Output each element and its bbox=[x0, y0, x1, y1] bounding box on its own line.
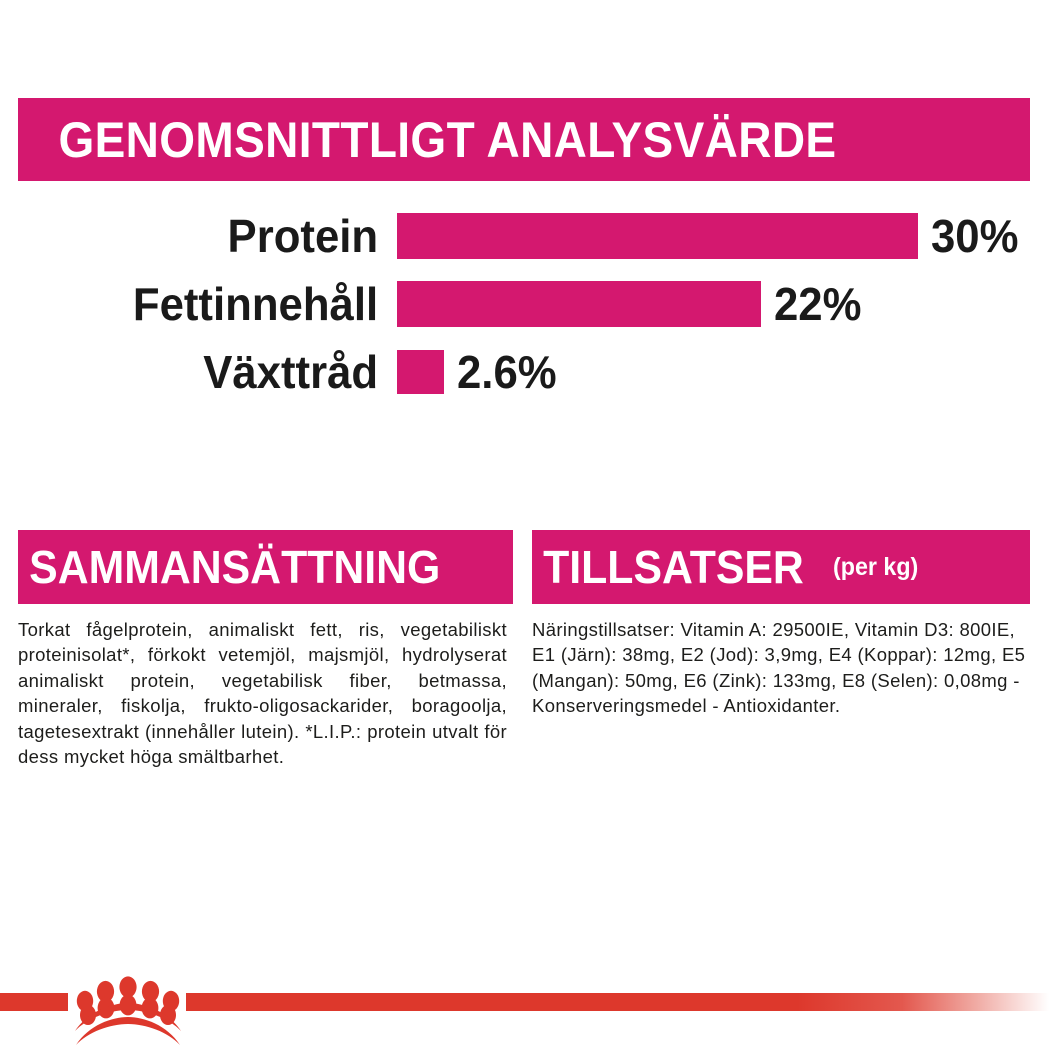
composition-header-band: SAMMANSÄTTNING bbox=[18, 530, 513, 604]
composition-text-block: Torkat fågelprotein, animaliskt fett, ri… bbox=[18, 617, 507, 769]
additives-header-title: TILLSATSER bbox=[532, 544, 804, 590]
chart-bar-wrapper: 30% bbox=[397, 205, 1023, 267]
chart-category-label: Protein bbox=[19, 213, 380, 259]
royal-canin-crown-icon bbox=[68, 975, 188, 1049]
additives-text: Näringstillsatser: Vitamin A: 29500IE, V… bbox=[532, 617, 1026, 719]
chart-value-label: 2.6% bbox=[457, 349, 557, 395]
chart-row: Fettinnehåll 22% bbox=[0, 273, 1049, 335]
average-analysis-bar-chart: Protein 30% Fettinnehåll 22% Växttråd 2.… bbox=[0, 200, 1049, 405]
additives-header-subtitle: (per kg) bbox=[833, 555, 918, 580]
chart-bar-wrapper: 2.6% bbox=[397, 341, 562, 403]
chart-value-label: 30% bbox=[931, 213, 1018, 259]
chart-category-label: Fettinnehåll bbox=[19, 281, 380, 327]
chart-row: Växttråd 2.6% bbox=[0, 341, 1049, 403]
composition-header-title: SAMMANSÄTTNING bbox=[18, 544, 440, 590]
analysis-header-title: GENOMSNITTLIGT ANALYSVÄRDE bbox=[18, 115, 836, 165]
chart-bar-wrapper: 22% bbox=[397, 273, 866, 335]
additives-text-block: Näringstillsatser: Vitamin A: 29500IE, V… bbox=[532, 617, 1026, 719]
additives-header-band: TILLSATSER (per kg) bbox=[532, 530, 1030, 604]
composition-text: Torkat fågelprotein, animaliskt fett, ri… bbox=[18, 617, 507, 769]
chart-category-label: Växttråd bbox=[19, 349, 380, 395]
footer bbox=[0, 975, 1049, 1049]
analysis-header-band: GENOMSNITTLIGT ANALYSVÄRDE bbox=[18, 98, 1030, 181]
chart-bar bbox=[397, 281, 761, 327]
chart-bar bbox=[397, 350, 444, 394]
chart-bar bbox=[397, 213, 918, 259]
chart-value-label: 22% bbox=[774, 281, 861, 327]
chart-row: Protein 30% bbox=[0, 205, 1049, 267]
